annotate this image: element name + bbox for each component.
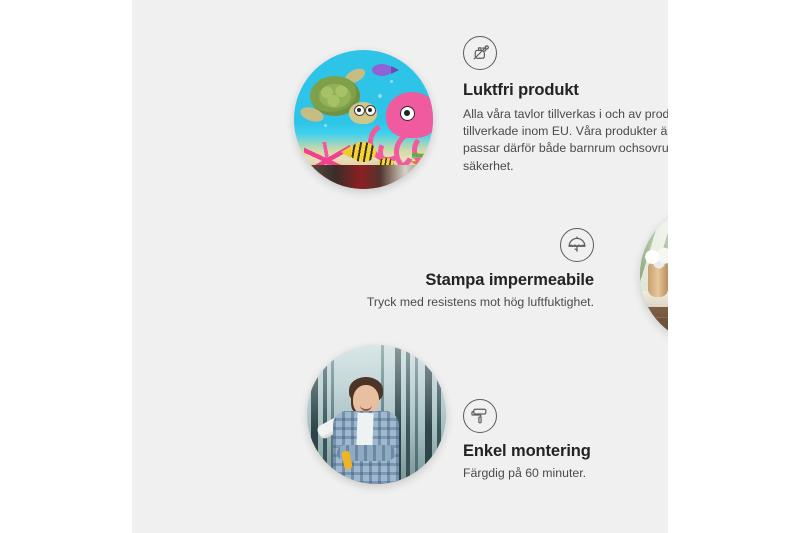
- no-fragrance-icon: [463, 36, 497, 70]
- woman-paint-roller-forest-wallpaper-photo: [307, 345, 446, 484]
- bubble-icon: [390, 80, 393, 83]
- feature-description: Alla våra tavlor tillverkas i och av pro…: [463, 106, 668, 175]
- feature-description: Färgdig på 60 minuter.: [463, 465, 668, 482]
- bubble-icon: [324, 124, 327, 127]
- content-panel: Luktfri produkt Alla våra tavlor tillver…: [132, 0, 668, 533]
- bubble-icon: [378, 94, 382, 98]
- feature-title: Enkel montering: [463, 442, 668, 461]
- feature-title: Luktfri produkt: [463, 81, 668, 100]
- turtle-eye: [354, 105, 365, 116]
- woman-inner-shirt: [356, 413, 373, 448]
- room-foreground-strip: [294, 165, 433, 189]
- turtle-eye: [365, 105, 376, 116]
- paint-roller-icon: [463, 399, 497, 433]
- feature-easy-install: Enkel montering Färgdig på 60 minuter.: [463, 399, 668, 482]
- octopus-eye: [400, 106, 415, 121]
- feature-description: Tryck med resistens mot hög luftfuktighe…: [322, 294, 594, 311]
- yellow-striped-fish-icon: [350, 142, 376, 162]
- bathroom-botanical-wallpaper-photo: [640, 205, 668, 344]
- forest-scene-art: [307, 345, 446, 484]
- underwater-cartoon-wallpaper-photo: [294, 50, 433, 189]
- white-flowers: [642, 247, 668, 269]
- cabinet-drawer: [646, 317, 668, 338]
- feature-title: Stampa impermeabile: [322, 271, 594, 290]
- promo-graphic: Luktfri produkt Alla våra tavlor tillver…: [0, 0, 800, 533]
- bathroom-scene-art: [640, 205, 668, 344]
- underwater-scene-art: [294, 50, 433, 189]
- umbrella-icon: [560, 228, 594, 262]
- purple-fish-icon: [372, 64, 392, 76]
- feature-waterproof: Stampa impermeabile Tryck med resistens …: [322, 228, 594, 311]
- feature-odourless: Luktfri produkt Alla våra tavlor tillver…: [463, 36, 668, 175]
